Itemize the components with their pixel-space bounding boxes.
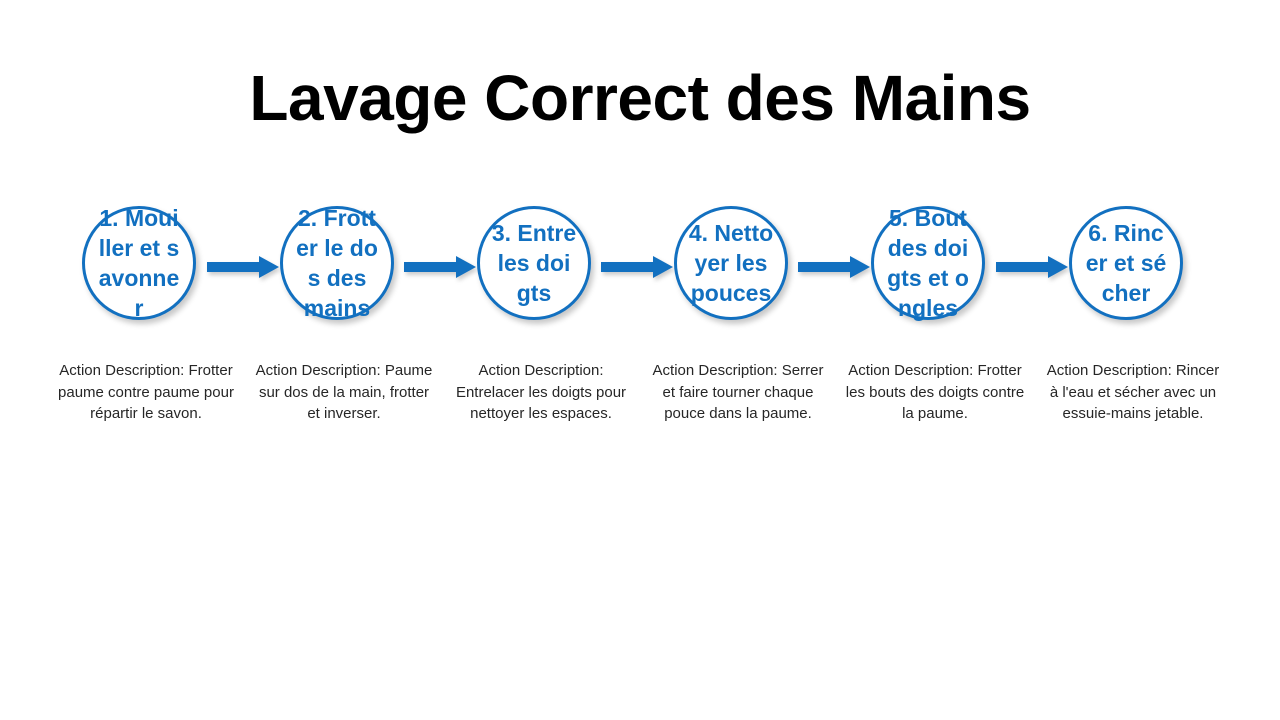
- process-step-5[interactable]: 5. Bout des doigts et ongles Action Desc…: [845, 0, 1025, 720]
- process-step-2[interactable]: 2. Frotter le dos des mains Action Descr…: [254, 0, 434, 720]
- step-circle-4[interactable]: [674, 206, 788, 320]
- step-description-6: Action Description: Rincer à l'eau et sé…: [1041, 360, 1225, 425]
- step-circle-5[interactable]: [871, 206, 985, 320]
- step-circle-2[interactable]: [280, 206, 394, 320]
- process-step-1[interactable]: 1. Mouiller et savonner Action Descripti…: [56, 0, 236, 720]
- process-flow: 1. Mouiller et savonner Action Descripti…: [0, 0, 1280, 720]
- step-circle-6[interactable]: [1069, 206, 1183, 320]
- step-circle-3[interactable]: [477, 206, 591, 320]
- process-step-6[interactable]: 6. Rincer et sécher Action Description: …: [1043, 0, 1223, 720]
- step-description-2: Action Description: Paume sur dos de la …: [252, 360, 436, 425]
- slide-canvas: Lavage Correct des Mains 1. Mouiller et …: [0, 0, 1280, 720]
- step-description-4: Action Description: Serrer et faire tour…: [646, 360, 830, 425]
- step-description-5: Action Description: Frotter les bouts de…: [843, 360, 1027, 425]
- step-circle-1[interactable]: [82, 206, 196, 320]
- process-step-4[interactable]: 4. Nettoyer les pouces Action Descriptio…: [648, 0, 828, 720]
- step-description-1: Action Description: Frotter paume contre…: [54, 360, 238, 425]
- step-description-3: Action Description: Entrelacer les doigt…: [449, 360, 633, 425]
- process-step-3[interactable]: 3. Entre les doigts Action Description: …: [451, 0, 631, 720]
